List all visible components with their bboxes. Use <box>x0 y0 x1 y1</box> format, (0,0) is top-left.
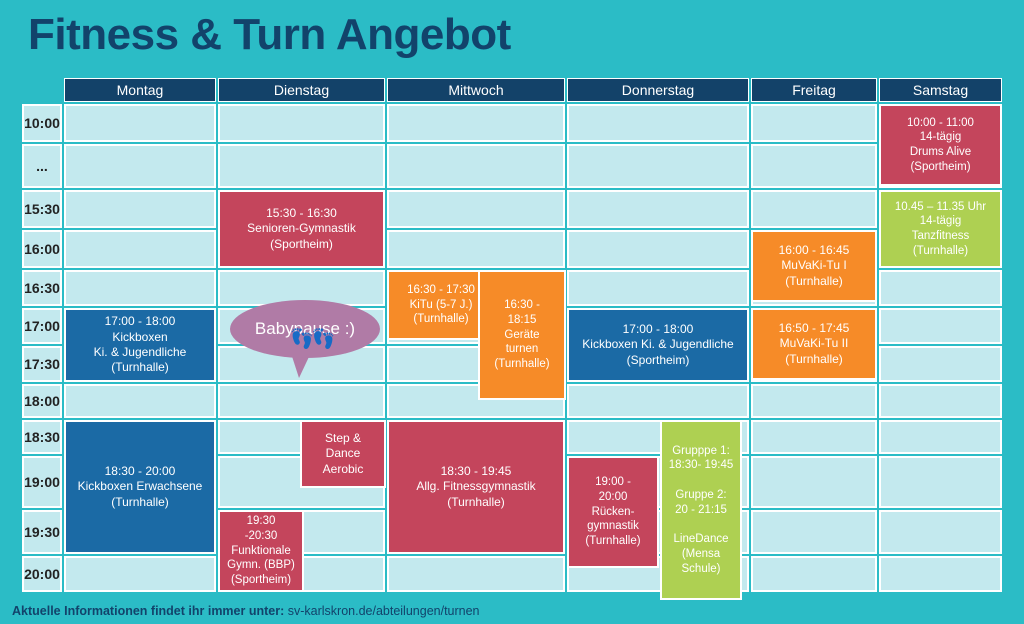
slot-cell[interactable] <box>751 144 877 188</box>
slot-cell[interactable] <box>879 308 1002 344</box>
event-line: 18:30- 19:45 <box>664 458 738 473</box>
day-header-samstag: Samstag <box>879 78 1002 102</box>
event-block[interactable]: Grupppe 1:18:30- 19:45 Gruppe 2:20 - 21:… <box>660 420 742 600</box>
event-line: Kickboxen Ki. & Jugendliche <box>571 337 745 352</box>
event-line: -20:30 <box>222 529 300 544</box>
time-label-1930: 19:30 <box>22 510 62 554</box>
time-label-1730: 17:30 <box>22 346 62 382</box>
day-header-mittwoch: Mittwoch <box>387 78 565 102</box>
time-label-text: ... <box>36 158 48 174</box>
event-line: Allg. Fitnessgymnastik <box>391 479 561 494</box>
slot-cell[interactable] <box>751 456 877 508</box>
event-line: 10.45 – 11.35 Uhr <box>883 200 998 215</box>
time-label-1530: 15:30 <box>22 190 62 228</box>
time-label-1900: 19:00 <box>22 456 62 508</box>
slot-cell[interactable] <box>879 270 1002 306</box>
event-line: (Turnhalle) <box>68 360 212 375</box>
event-line: Aerobic <box>304 462 382 477</box>
slot-cell[interactable] <box>879 420 1002 454</box>
slot-cell[interactable] <box>567 230 749 268</box>
slot-cell[interactable] <box>64 270 216 306</box>
slot-cell[interactable] <box>64 190 216 228</box>
event-line: (Sportheim) <box>571 353 745 368</box>
slot-cell[interactable] <box>64 104 216 142</box>
day-header-montag: Montag <box>64 78 216 102</box>
slot-cell[interactable] <box>879 346 1002 382</box>
schedule-grid-cells: MontagDienstagMittwochDonnerstagFreitagS… <box>22 78 1002 594</box>
slot-cell[interactable] <box>567 190 749 228</box>
event-line: (Sportheim) <box>222 573 300 588</box>
slot-cell[interactable] <box>218 144 385 188</box>
event-line: Rücken- <box>571 505 655 520</box>
day-header-label: Freitag <box>792 82 836 98</box>
event-line: (Turnhalle) <box>571 534 655 549</box>
event-line: (Turnhalle) <box>391 312 491 327</box>
event-block[interactable]: 10.45 – 11.35 Uhr14-tägigTanzfitness(Tur… <box>879 190 1002 268</box>
slot-cell[interactable] <box>751 104 877 142</box>
slot-cell[interactable] <box>567 270 749 306</box>
event-block[interactable]: 19:00 -20:00Rücken-gymnastik(Turnhalle) <box>567 456 659 568</box>
slot-cell[interactable] <box>567 104 749 142</box>
event-line: Schule) <box>664 562 738 577</box>
event-block[interactable]: 16:00 - 16:45MuVaKi-Tu I(Turnhalle) <box>751 230 877 302</box>
slot-cell[interactable] <box>218 104 385 142</box>
slot-cell[interactable] <box>387 230 565 268</box>
time-label-text: 18:00 <box>24 393 60 409</box>
event-line <box>664 473 738 488</box>
event-line: Gruppe 2: <box>664 488 738 503</box>
event-block[interactable]: 17:00 - 18:00KickboxenKi. & Jugendliche(… <box>64 308 216 382</box>
day-header-dienstag: Dienstag <box>218 78 385 102</box>
day-header-donnerstag: Donnerstag <box>567 78 749 102</box>
event-line: 14-tägig <box>883 214 998 229</box>
time-label-text: 15:30 <box>24 201 60 217</box>
event-line: 16:00 - 16:45 <box>755 243 873 258</box>
event-line: (Turnhalle) <box>68 495 212 510</box>
time-label-2000: 20:00 <box>22 556 62 592</box>
footer-url[interactable]: sv-karlskron.de/abteilungen/turnen <box>288 604 480 618</box>
event-line: MuVaKi-Tu II <box>755 336 873 351</box>
slot-cell[interactable] <box>387 104 565 142</box>
footer-lead: Aktuelle Informationen findet ihr immer … <box>12 604 284 618</box>
time-label-text: 16:00 <box>24 241 60 257</box>
slot-cell[interactable] <box>387 190 565 228</box>
time-label-text: 16:30 <box>24 280 60 296</box>
time-label-text: 19:00 <box>24 474 60 490</box>
event-line: turnen <box>482 342 562 357</box>
day-header-label: Montag <box>117 82 164 98</box>
slot-cell[interactable] <box>751 190 877 228</box>
time-label-1830: 18:30 <box>22 420 62 454</box>
slot-cell[interactable] <box>879 556 1002 592</box>
time-label-text: 18:30 <box>24 429 60 445</box>
slot-cell[interactable] <box>751 420 877 454</box>
event-line: (Sportheim) <box>222 237 381 252</box>
time-label-text: 10:00 <box>24 115 60 131</box>
event-block[interactable]: 10:00 - 11:0014-tägigDrums Alive(Sporthe… <box>879 104 1002 186</box>
slot-cell[interactable] <box>879 456 1002 508</box>
slot-cell[interactable] <box>64 144 216 188</box>
event-block[interactable]: 15:30 - 16:30Senioren-Gymnastik(Sporthei… <box>218 190 385 268</box>
time-label-1800: 18:00 <box>22 384 62 418</box>
event-line: Tanzfitness <box>883 229 998 244</box>
slot-cell[interactable] <box>64 556 216 592</box>
event-line: MuVaKi-Tu I <box>755 258 873 273</box>
event-line: Step & <box>304 431 382 446</box>
day-header-freitag: Freitag <box>751 78 877 102</box>
event-line: (Turnhalle) <box>391 495 561 510</box>
event-line: 17:00 - 18:00 <box>68 314 212 329</box>
day-header-label: Dienstag <box>274 82 329 98</box>
day-header-label: Donnerstag <box>622 82 694 98</box>
event-block[interactable]: 18:30 - 20:00Kickboxen Erwachsene(Turnha… <box>64 420 216 554</box>
event-line: (Sportheim) <box>883 160 998 175</box>
time-label-1600: 16:00 <box>22 230 62 268</box>
event-block[interactable]: Step &DanceAerobic <box>300 420 386 488</box>
event-line: (Turnhalle) <box>755 352 873 367</box>
slot-cell[interactable] <box>567 144 749 188</box>
event-line: 17:00 - 18:00 <box>571 322 745 337</box>
event-line: 16:50 - 17:45 <box>755 321 873 336</box>
event-line: 18:30 - 19:45 <box>391 464 561 479</box>
slot-cell[interactable] <box>879 510 1002 554</box>
event-line: 19:30 <box>222 514 300 529</box>
time-label-text: 17:00 <box>24 318 60 334</box>
event-line: Gymn. (BBP) <box>222 558 300 573</box>
slot-cell[interactable] <box>567 384 749 418</box>
footer-note: Aktuelle Informationen findet ihr immer … <box>12 604 480 618</box>
time-label-1700: 17:00 <box>22 308 62 344</box>
event-line: 14-tägig <box>883 130 998 145</box>
event-line: 18:15 <box>482 313 562 328</box>
event-line: Dance <box>304 446 382 461</box>
event-line: Ki. & Jugendliche <box>68 345 212 360</box>
event-line: 10:00 - 11:00 <box>883 116 998 131</box>
slot-cell[interactable] <box>751 384 877 418</box>
slot-cell[interactable] <box>879 384 1002 418</box>
slot-cell[interactable] <box>751 556 877 592</box>
slot-cell[interactable] <box>64 384 216 418</box>
event-line: (Mensa <box>664 547 738 562</box>
event-line: (Turnhalle) <box>755 274 873 289</box>
time-label-text: 19:30 <box>24 524 60 540</box>
event-line: Senioren-Gymnastik <box>222 221 381 236</box>
event-line: 19:00 - <box>571 475 655 490</box>
time-label-1630: 16:30 <box>22 270 62 306</box>
event-line: Grupppe 1: <box>664 444 738 459</box>
time-label-1000: 10:00 <box>22 104 62 142</box>
event-line: Kickboxen <box>68 330 212 345</box>
event-line: 15:30 - 16:30 <box>222 206 381 221</box>
event-line: (Turnhalle) <box>883 244 998 259</box>
event-line: 20 - 21:15 <box>664 503 738 518</box>
event-line: Drums Alive <box>883 145 998 160</box>
time-label-text: 17:30 <box>24 356 60 372</box>
event-line: 16:30 - <box>482 298 562 313</box>
event-line: Funktionale <box>222 544 300 559</box>
event-line: LineDance <box>664 532 738 547</box>
slot-cell[interactable] <box>387 556 565 592</box>
slot-cell[interactable] <box>387 144 565 188</box>
event-line: 16:30 - 17:30 <box>391 283 491 298</box>
page-title: Fitness & Turn Angebot <box>28 10 511 61</box>
event-line: KiTu (5-7 J.) <box>391 298 491 313</box>
day-header-label: Samstag <box>913 82 968 98</box>
event-block[interactable]: 16:30 -18:15Geräteturnen(Turnhalle) <box>478 270 566 400</box>
time-label-text: 20:00 <box>24 566 60 582</box>
slot-cell[interactable] <box>218 384 385 418</box>
schedule-grid: MontagDienstagMittwochDonnerstagFreitagS… <box>22 78 1002 594</box>
slot-cell[interactable] <box>64 230 216 268</box>
event-line: Geräte <box>482 328 562 343</box>
event-line <box>664 517 738 532</box>
slot-cell[interactable] <box>751 510 877 554</box>
babypause-callout: Babypause :) 👣👣 <box>230 300 380 366</box>
event-line: 18:30 - 20:00 <box>68 464 212 479</box>
day-header-label: Mittwoch <box>448 82 503 98</box>
event-line: (Turnhalle) <box>482 357 562 372</box>
footprints-icon: 👣👣 <box>290 330 333 349</box>
event-line: 20:00 <box>571 490 655 505</box>
event-block[interactable]: 19:30-20:30FunktionaleGymn. (BBP)(Sporth… <box>218 510 304 592</box>
time-label-: ... <box>22 144 62 188</box>
event-block[interactable]: 16:50 - 17:45MuVaKi-Tu II(Turnhalle) <box>751 308 877 380</box>
event-block[interactable]: 18:30 - 19:45Allg. Fitnessgymnastik(Turn… <box>387 420 565 554</box>
event-block[interactable]: 17:00 - 18:00Kickboxen Ki. & Jugendliche… <box>567 308 749 382</box>
event-line: Kickboxen Erwachsene <box>68 479 212 494</box>
event-line: gymnastik <box>571 519 655 534</box>
